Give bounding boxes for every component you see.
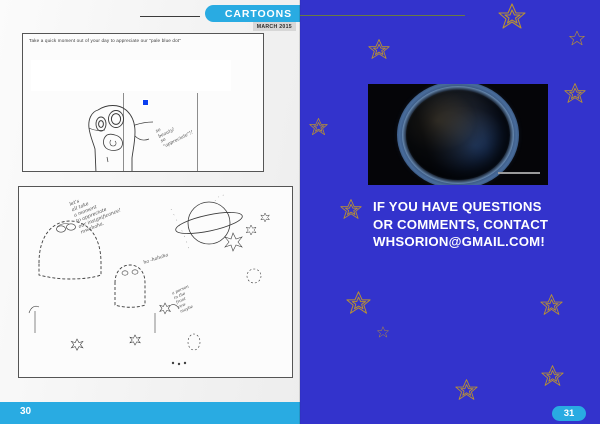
earth-limb-highlight bbox=[402, 86, 514, 184]
star-icon bbox=[368, 38, 390, 60]
star-icon bbox=[340, 198, 362, 220]
star-icon bbox=[541, 364, 564, 387]
photo-scale-bar bbox=[498, 172, 540, 174]
alien-character-drawing bbox=[23, 34, 264, 172]
star-icon bbox=[377, 326, 389, 338]
top-hairline bbox=[300, 15, 465, 16]
star-icon bbox=[309, 117, 328, 136]
top-cartoon-panel: Take a quick moment out of your day to a… bbox=[22, 33, 264, 172]
section-label-pill: CARTOONS bbox=[205, 5, 300, 22]
bottom-panel-drawing bbox=[19, 187, 293, 378]
earth-image bbox=[368, 84, 548, 185]
right-page: IF YOU HAVE QUESTIONS OR COMMENTS, CONTA… bbox=[300, 0, 600, 424]
magazine-spread: CARTOONS MARCH 2015 Take a quick moment … bbox=[0, 0, 600, 424]
left-page-number: 30 bbox=[20, 406, 31, 417]
right-page-folio-pill: 31 bbox=[552, 406, 586, 421]
contact-text: IF YOU HAVE QUESTIONS OR COMMENTS, CONTA… bbox=[373, 198, 563, 251]
star-icon bbox=[540, 293, 563, 316]
star-icon bbox=[569, 30, 585, 46]
issue-date-tag: MARCH 2015 bbox=[253, 22, 296, 31]
star-icon bbox=[498, 2, 526, 30]
star-icon bbox=[455, 378, 478, 401]
masthead: CARTOONS MARCH 2015 bbox=[0, 0, 300, 32]
section-label: CARTOONS bbox=[225, 8, 292, 20]
star-icon bbox=[346, 290, 371, 315]
earth-photo bbox=[368, 84, 548, 185]
star-icon bbox=[564, 82, 586, 104]
masthead-rule bbox=[140, 16, 200, 17]
right-page-number: 31 bbox=[564, 408, 575, 419]
left-page-folio-bar: 30 bbox=[0, 402, 300, 424]
bottom-cartoon-panel: let's all take a moment to appreciate ou… bbox=[18, 186, 293, 378]
issue-date-label: MARCH 2015 bbox=[257, 24, 292, 30]
left-page: CARTOONS MARCH 2015 Take a quick moment … bbox=[0, 0, 300, 424]
